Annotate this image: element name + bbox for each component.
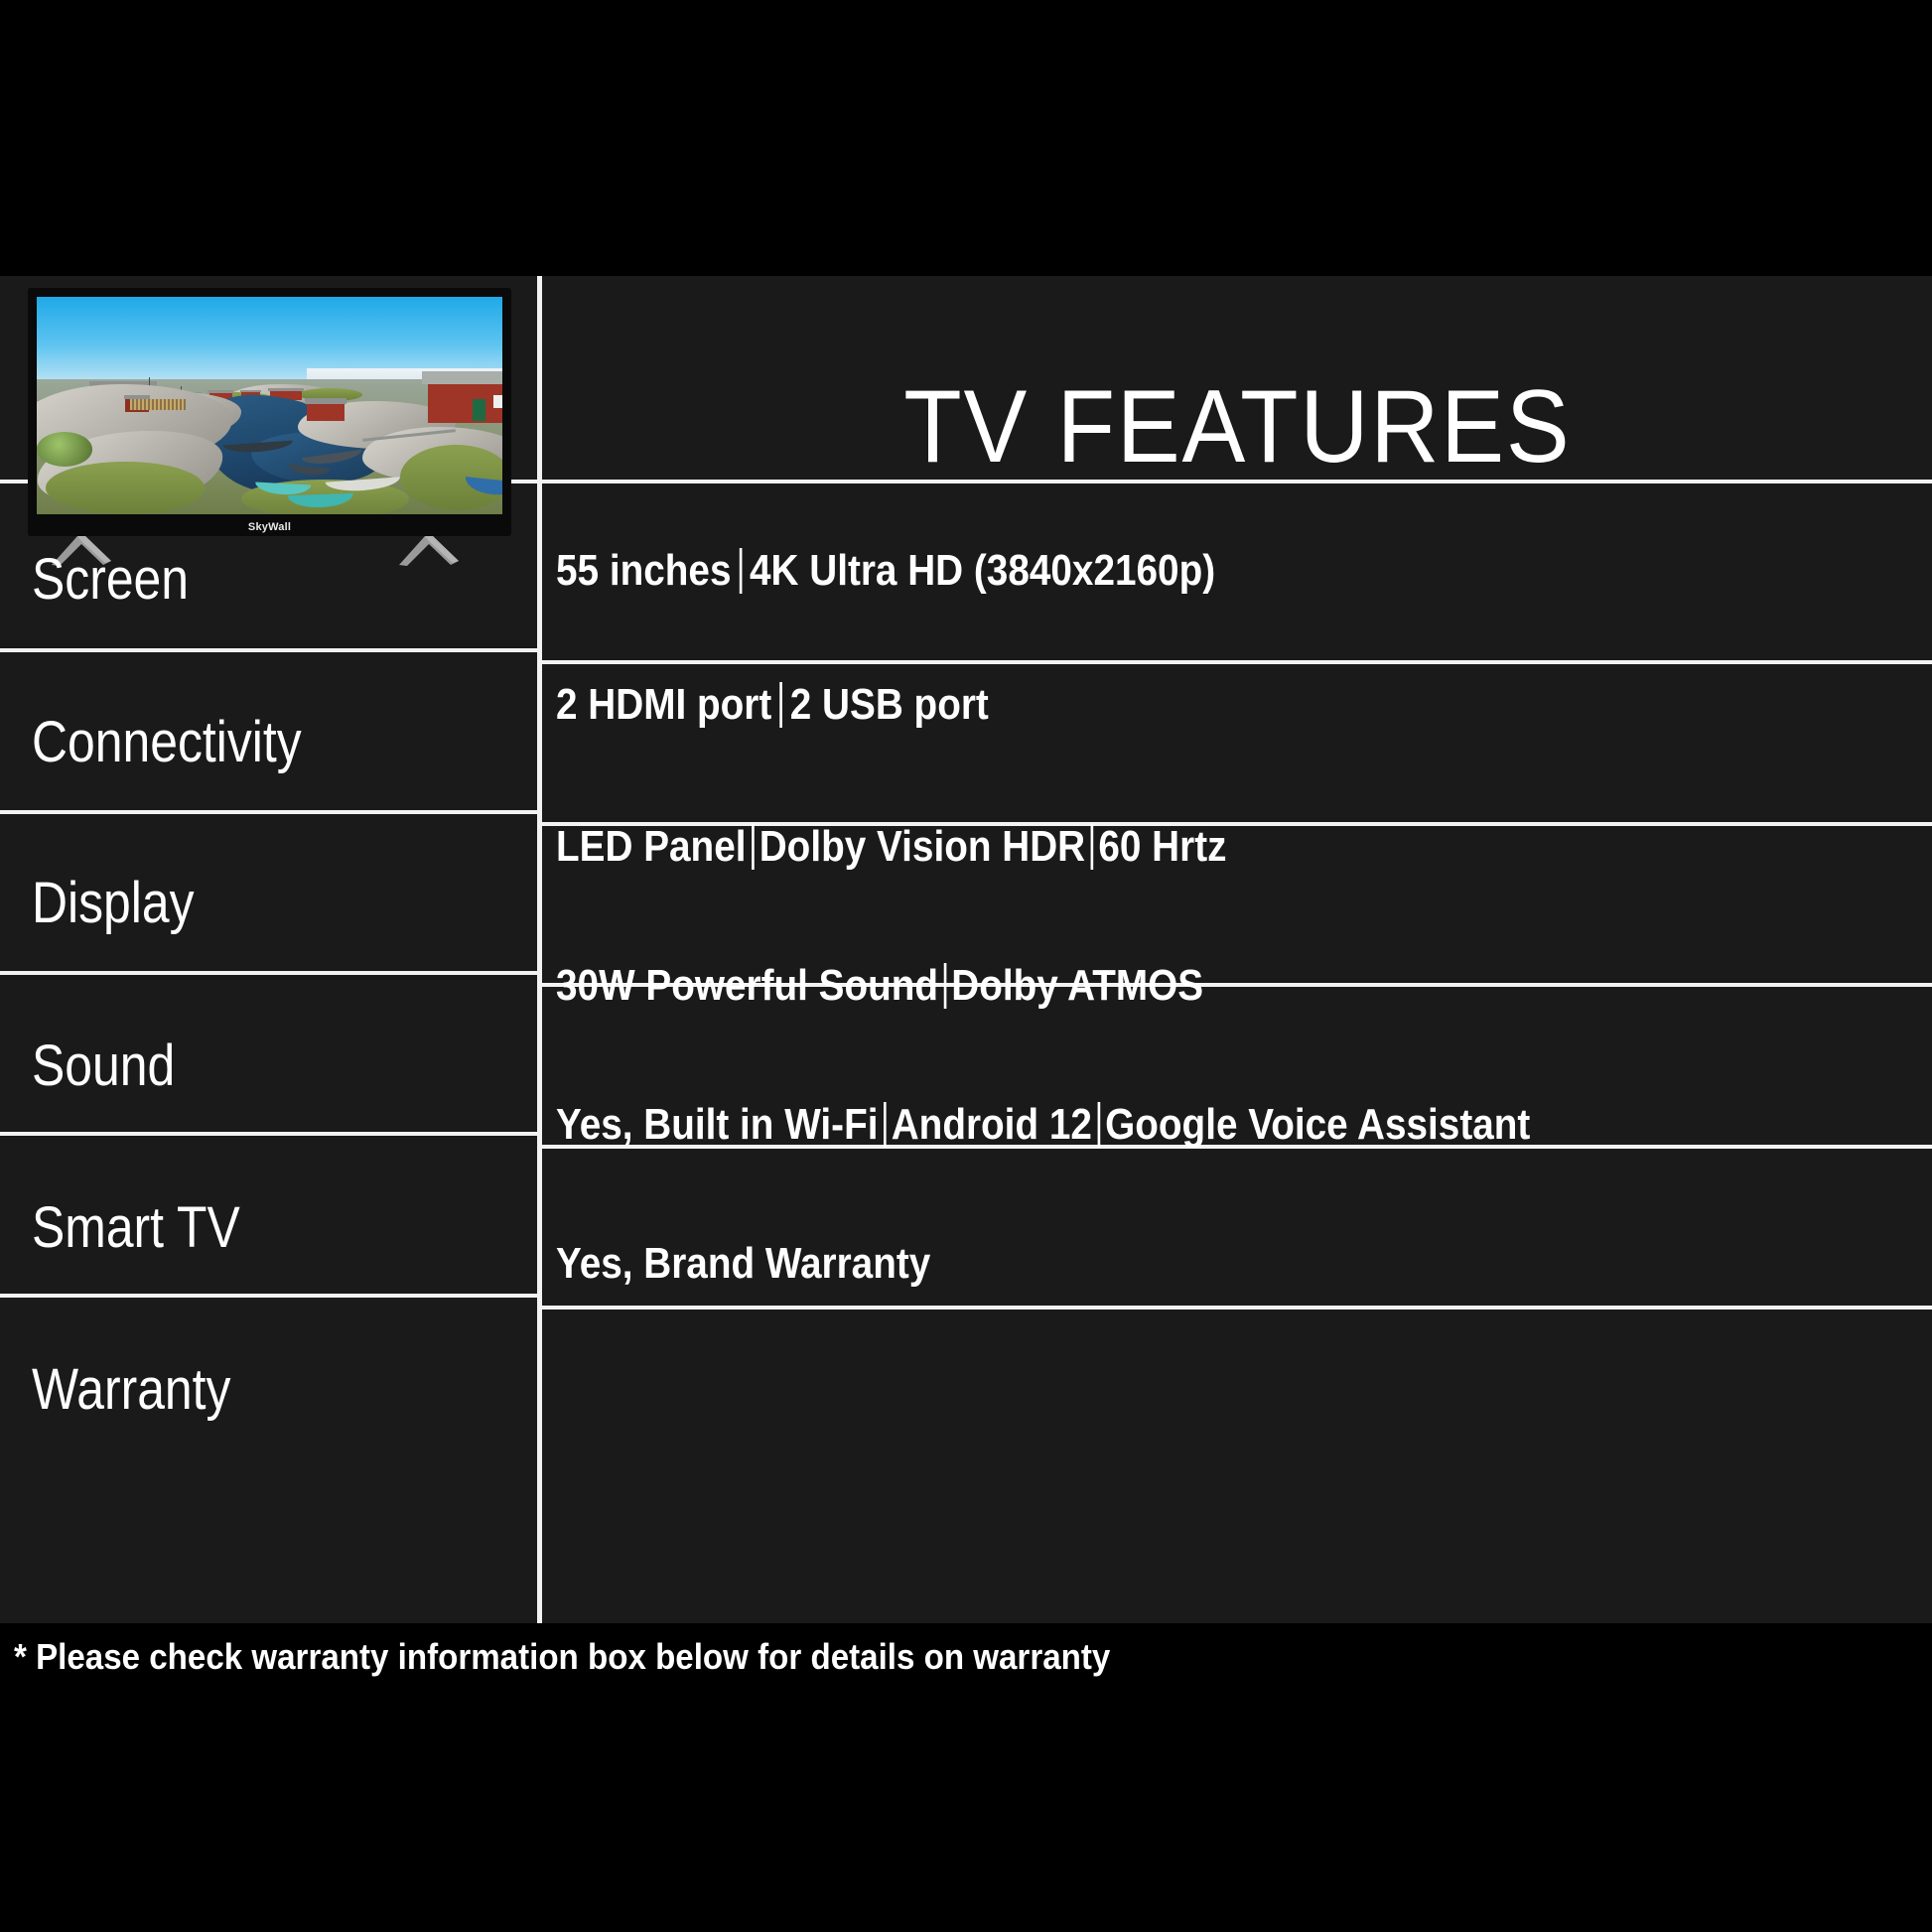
tv-device: SkyWall bbox=[28, 288, 511, 536]
value-part: 2 USB port bbox=[790, 680, 989, 730]
tv-stand-leg-right bbox=[395, 532, 463, 566]
value-part: 2 HDMI port bbox=[556, 680, 771, 730]
cabin-large bbox=[428, 384, 502, 423]
value-separator-icon bbox=[884, 1102, 887, 1148]
value-part: 55 inches bbox=[556, 546, 731, 596]
value-separator-icon bbox=[943, 963, 946, 1009]
tv-features-infographic: SkyWall TV FEATURES Screen Connectivity bbox=[0, 0, 1932, 1932]
roof bbox=[422, 371, 502, 384]
row-divider-right-6 bbox=[542, 1306, 1932, 1310]
value-separator-icon bbox=[1097, 1102, 1100, 1148]
title-cell: TV FEATURES bbox=[542, 276, 1932, 579]
row-value-smart-tv: Yes, Built in Wi-Fi Android 12 Google Vo… bbox=[556, 1100, 1530, 1150]
row-label-smart-tv: Smart TV bbox=[32, 1194, 240, 1261]
roof bbox=[207, 390, 233, 393]
row-label-warranty: Warranty bbox=[32, 1356, 230, 1423]
page-title: TV FEATURES bbox=[903, 368, 1571, 486]
roof bbox=[240, 390, 261, 392]
row-divider-left-4 bbox=[0, 971, 537, 975]
row-label-screen: Screen bbox=[32, 546, 189, 613]
cabin bbox=[307, 403, 345, 421]
roof bbox=[268, 388, 305, 391]
warranty-footnote: * Please check warranty information box … bbox=[14, 1636, 1110, 1678]
value-separator-icon bbox=[1090, 824, 1093, 870]
value-part: Android 12 bbox=[892, 1100, 1092, 1150]
value-part: Yes, Built in Wi-Fi bbox=[556, 1100, 879, 1150]
value-part: Dolby Vision HDR bbox=[759, 822, 1085, 872]
row-divider-left-2 bbox=[0, 648, 537, 652]
roof bbox=[305, 398, 346, 404]
window bbox=[493, 395, 502, 408]
tv-screen bbox=[37, 297, 502, 514]
row-value-display: LED Panel Dolby Vision HDR 60 Hrtz bbox=[556, 822, 1226, 872]
grass-patch bbox=[46, 462, 204, 514]
row-value-sound: 30W Powerful Sound Dolby ATMOS bbox=[556, 961, 1203, 1011]
value-part: 4K Ultra HD (3840x2160p) bbox=[750, 546, 1215, 596]
features-panel: SkyWall TV FEATURES Screen Connectivity bbox=[0, 276, 1932, 1623]
bush bbox=[37, 432, 92, 467]
value-part: Dolby ATMOS bbox=[951, 961, 1203, 1011]
value-part: 60 Hrtz bbox=[1098, 822, 1226, 872]
tv-product-image-cell: SkyWall bbox=[0, 276, 537, 579]
row-value-connectivity: 2 HDMI port 2 USB port bbox=[556, 680, 989, 730]
row-divider-left-6 bbox=[0, 1294, 537, 1298]
value-part: Google Voice Assistant bbox=[1105, 1100, 1530, 1150]
row-divider-right-2 bbox=[542, 660, 1932, 664]
value-part: Yes, Brand Warranty bbox=[556, 1239, 930, 1289]
row-label-display: Display bbox=[32, 870, 195, 936]
value-part: 30W Powerful Sound bbox=[556, 961, 938, 1011]
door bbox=[473, 399, 484, 422]
value-separator-icon bbox=[752, 824, 755, 870]
value-separator-icon bbox=[779, 682, 782, 728]
row-divider-left-3 bbox=[0, 810, 537, 814]
row-label-connectivity: Connectivity bbox=[32, 709, 302, 775]
value-part: LED Panel bbox=[556, 822, 747, 872]
value-separator-icon bbox=[739, 548, 742, 594]
row-label-sound: Sound bbox=[32, 1033, 175, 1099]
fence bbox=[130, 399, 186, 410]
row-divider-left-5 bbox=[0, 1132, 537, 1136]
row-value-screen: 55 inches 4K Ultra HD (3840x2160p) bbox=[556, 546, 1215, 596]
row-value-warranty: Yes, Brand Warranty bbox=[556, 1239, 930, 1289]
